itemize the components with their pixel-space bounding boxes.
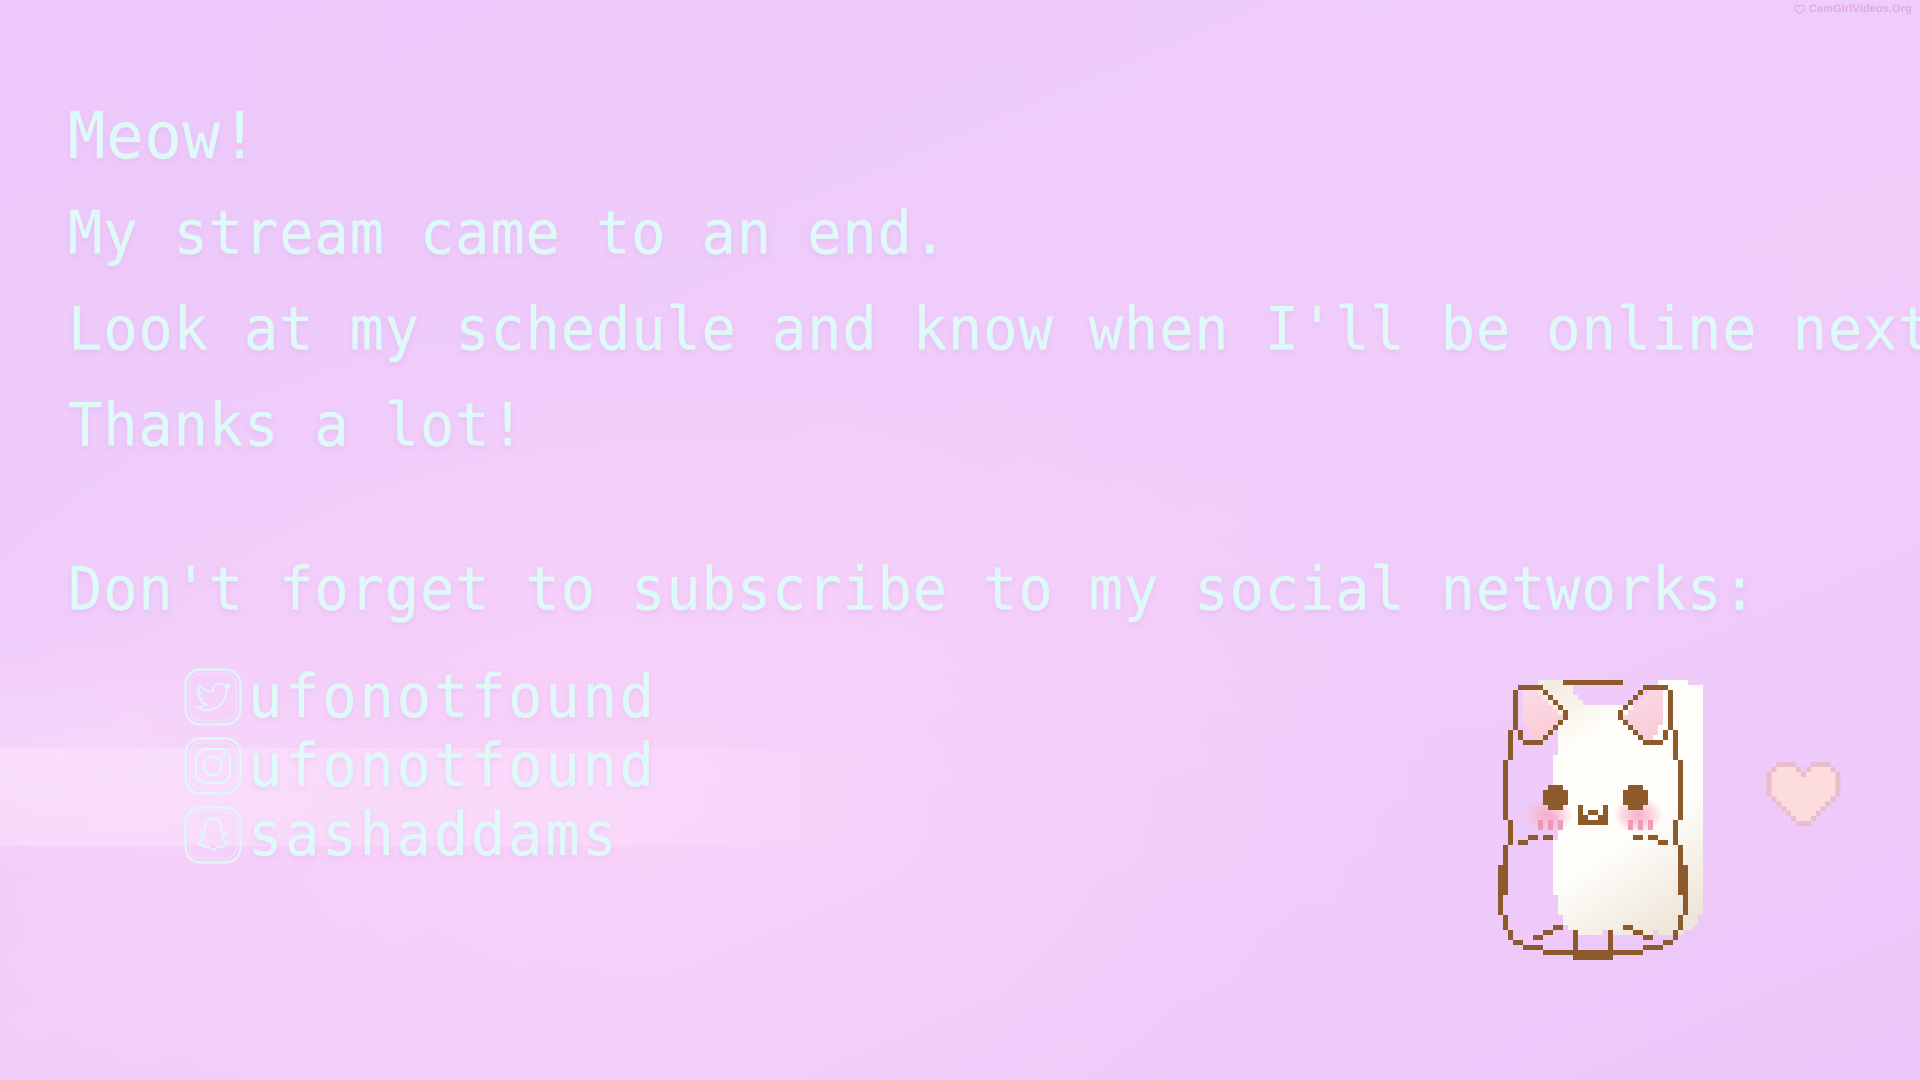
social-link-instagram[interactable]: ufonotfound (182, 732, 657, 800)
snapchat-icon (182, 804, 244, 866)
instagram-handle: ufonotfound (248, 733, 657, 798)
page-title: Meow! (68, 84, 1920, 188)
pixel-cat (1483, 655, 1703, 969)
social-link-snapchat[interactable]: sashaddams (182, 801, 657, 869)
message-line-3: Thanks a lot! (68, 376, 1920, 476)
twitter-handle: ufonotfound (248, 664, 657, 729)
message-spacer (68, 472, 1920, 540)
wallpaper-background: Meow! My stream came to an end. Look at … (0, 0, 1920, 1080)
pixel-heart (1766, 762, 1841, 830)
socials-prompt: Don't forget to subscribe to my social n… (68, 540, 1920, 640)
stream-offline-message: Meow! My stream came to an end. Look at … (68, 84, 1920, 636)
watermark-logo-icon (1794, 4, 1806, 15)
message-line-2: Look at my schedule and know when I'll b… (68, 280, 1920, 380)
watermark-text: CamGirlVideos.Org (1809, 3, 1912, 15)
message-line-1: My stream came to an end. (68, 184, 1920, 284)
twitter-icon (182, 666, 244, 728)
social-links-list: ufonotfound ufonotfound (182, 663, 657, 870)
site-watermark: CamGirlVideos.Org (1794, 3, 1912, 15)
snapchat-handle: sashaddams (248, 802, 620, 867)
social-link-twitter[interactable]: ufonotfound (182, 663, 657, 731)
instagram-icon (182, 735, 244, 797)
